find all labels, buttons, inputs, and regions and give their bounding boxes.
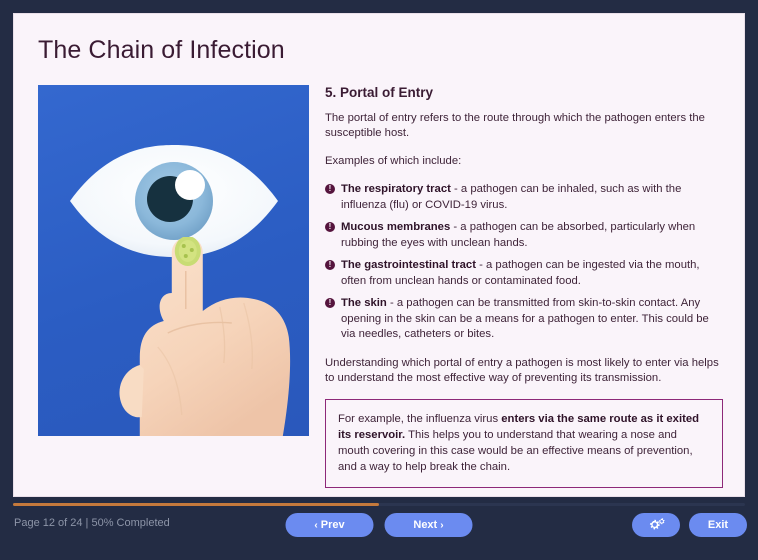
section-heading: 5. Portal of Entry (325, 85, 723, 100)
list-item-term: The respiratory tract (341, 183, 451, 195)
example-callout-box: For example, the influenza virus enters … (325, 399, 723, 488)
pointing-hand-graphic (67, 237, 293, 436)
callout-text: For example, the influenza virus enters … (338, 411, 710, 475)
examples-lead: Examples of which include: (325, 154, 723, 169)
exit-button[interactable]: Exit (689, 513, 747, 537)
list-item-text: - a pathogen can be transmitted from ski… (341, 297, 709, 340)
page-title: The Chain of Infection (38, 36, 285, 65)
slide-card: The Chain of Infection (13, 13, 745, 497)
callout-lead: For example, the influenza virus (338, 413, 501, 425)
progress-bar-track[interactable] (13, 503, 745, 506)
list-item-term: The gastrointestinal tract (341, 259, 476, 271)
exclamation-circle-icon: ! (325, 222, 335, 232)
page-status-text: Page 12 of 24 | 50% Completed (14, 517, 170, 529)
progress-bar-fill (13, 503, 379, 506)
footer-bar: Page 12 of 24 | 50% Completed ‹ Prev Nex… (0, 510, 758, 560)
next-button-label: Next (413, 519, 437, 531)
chevron-left-icon: ‹ (314, 520, 317, 531)
closing-paragraph: Understanding which portal of entry a pa… (325, 356, 723, 387)
gears-icon (646, 517, 666, 533)
utility-buttons: Exit (632, 513, 747, 537)
list-item-term: The skin (341, 297, 387, 309)
list-item: ! The respiratory tract - a pathogen can… (325, 182, 723, 213)
lesson-content: 5. Portal of Entry The portal of entry r… (325, 85, 723, 488)
prev-button[interactable]: ‹ Prev (286, 513, 374, 537)
list-item-term: Mucous membranes (341, 221, 450, 233)
chevron-right-icon: › (440, 520, 443, 531)
prev-button-label: Prev (321, 519, 345, 531)
intro-paragraph: The portal of entry refers to the route … (325, 111, 723, 142)
exclamation-circle-icon: ! (325, 184, 335, 194)
list-item: ! Mucous membranes - a pathogen can be a… (325, 220, 723, 251)
next-button[interactable]: Next › (385, 513, 473, 537)
exclamation-circle-icon: ! (325, 260, 335, 270)
settings-button[interactable] (632, 513, 680, 537)
exclamation-circle-icon: ! (325, 298, 335, 308)
list-item: ! The gastrointestinal tract - a pathoge… (325, 258, 723, 289)
portal-of-entry-list: ! The respiratory tract - a pathogen can… (325, 182, 723, 342)
exit-button-label: Exit (708, 519, 728, 531)
list-item: ! The skin - a pathogen can be transmitt… (325, 296, 723, 342)
navigation-buttons: ‹ Prev Next › (286, 513, 473, 537)
hand-icon (67, 237, 293, 436)
eye-and-hand-illustration (38, 85, 309, 436)
